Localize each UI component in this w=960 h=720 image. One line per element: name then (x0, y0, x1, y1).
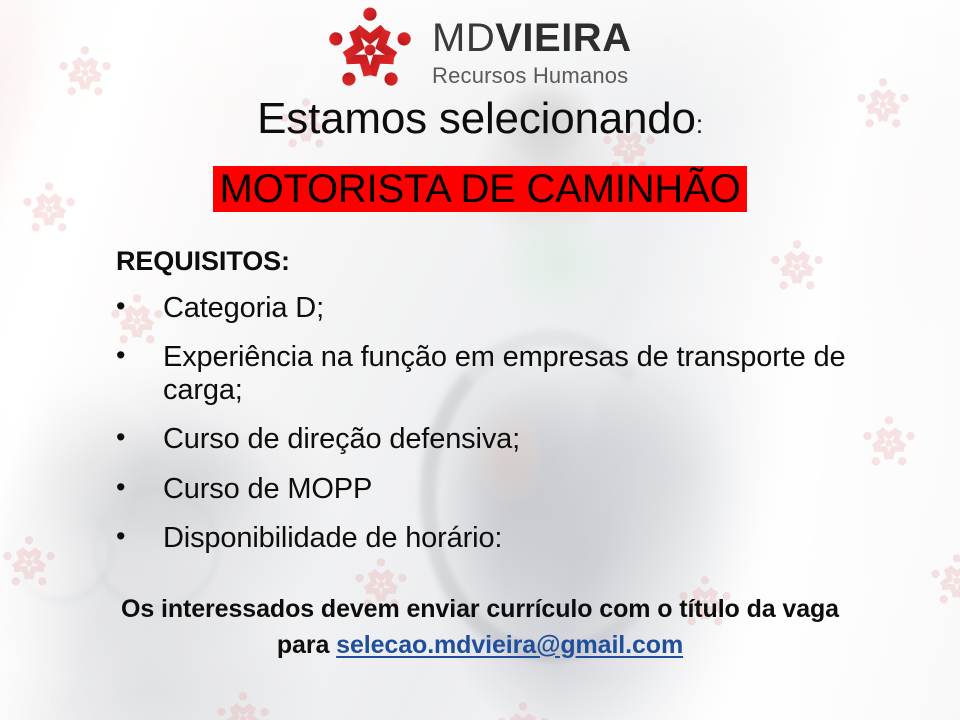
headline-colon: : (696, 109, 703, 139)
contact-instructions: Os interessados devem enviar currículo c… (0, 592, 960, 663)
headline-text: Estamos selecionando (257, 94, 696, 143)
requirement-item: Experiência na função em empresas de tra… (112, 341, 902, 406)
company-name: MDVIEIRA (432, 18, 632, 58)
contact-line-1: Os interessados devem enviar currículo c… (0, 592, 960, 628)
role-banner: MOTORISTA DE CAMINHÃO (0, 166, 960, 212)
role-title: MOTORISTA DE CAMINHÃO (213, 166, 746, 212)
contact-email-link[interactable]: selecao.mdvieira@gmail.com (336, 631, 683, 659)
job-posting-poster: MDVIEIRA Recursos Humanos Estamos seleci… (0, 0, 960, 720)
company-logo-text: MDVIEIRA Recursos Humanos (432, 14, 632, 87)
mdvieira-star-people-logo-icon (322, 4, 418, 96)
requirement-item: Curso de MOPP (112, 473, 902, 505)
company-name-bold: VIEIRA (495, 16, 631, 60)
requirement-item: Disponibilidade de horário: (112, 522, 902, 554)
requirement-item: Curso de direção defensiva; (112, 423, 902, 455)
page-title: Estamos selecionando: (0, 96, 960, 142)
contact-prefix: para (277, 631, 336, 659)
company-logo: MDVIEIRA Recursos Humanos (322, 4, 632, 96)
company-name-light: MD (432, 16, 495, 60)
contact-line-2: para selecao.mdvieira@gmail.com (0, 628, 960, 664)
requirements-list: Categoria D;Experiência na função em emp… (112, 292, 902, 572)
company-tagline: Recursos Humanos (432, 65, 632, 87)
requirement-item: Categoria D; (112, 292, 902, 324)
requirements-heading: REQUISITOS: (116, 246, 290, 277)
